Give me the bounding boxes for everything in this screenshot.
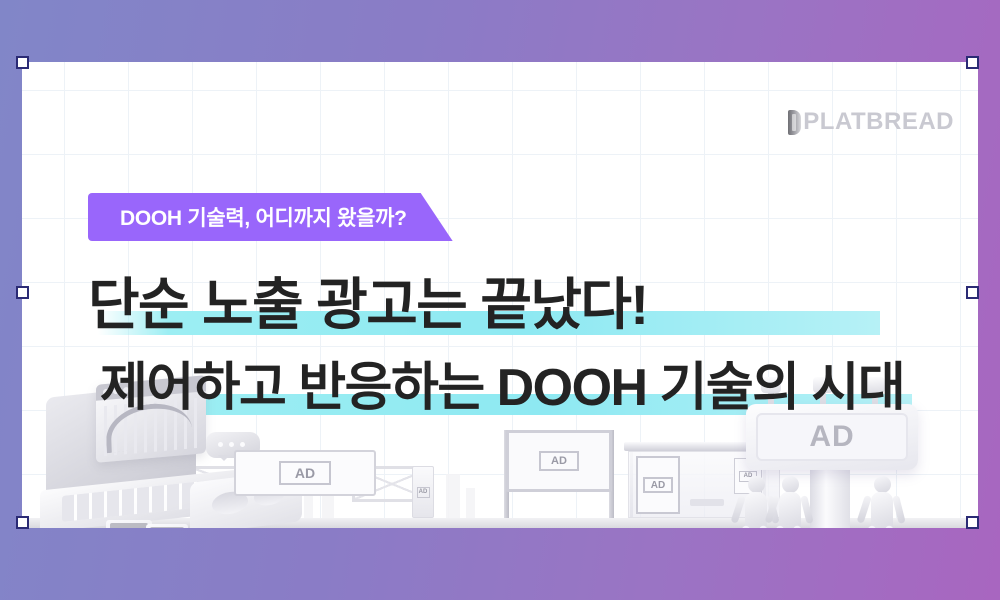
b-mark-icon (788, 110, 801, 135)
pedestrian-figure (776, 476, 806, 528)
figure-leg (758, 525, 776, 528)
box-lid (150, 527, 184, 528)
brand-logo: PLATBREAD (788, 108, 954, 136)
figure-body (779, 492, 801, 528)
billboard-panel: AD (506, 430, 612, 492)
ad-label: AD (417, 487, 430, 498)
figure-body (871, 492, 893, 528)
selection-handle-mid-left[interactable] (16, 286, 29, 299)
selection-handle-mid-right[interactable] (966, 286, 979, 299)
headline-line-2-text: 제어하고 반응하는 DOOH 기술의 시대 (100, 359, 904, 417)
figure-head (782, 476, 799, 493)
ad-label: AD (539, 451, 579, 471)
eyebrow-banner-text: DOOH 기술력, 어디까지 왔을까? (120, 202, 407, 232)
figure-body (745, 492, 767, 528)
ad-label: AD (279, 461, 331, 485)
bubble-dot-icon (240, 442, 245, 447)
figure-arm (731, 495, 746, 524)
selection-handle-bottom-right[interactable] (966, 516, 979, 529)
figure-head (748, 476, 765, 493)
hero-billboard-screen: AD (756, 413, 908, 461)
ad-label: AD (643, 477, 673, 493)
pillar-sign: AD (412, 466, 434, 518)
ad-label: AD (809, 420, 854, 454)
bubble-dot-icon (229, 442, 234, 447)
billboard-framed: AD (500, 430, 618, 518)
hero-pillar (810, 460, 850, 528)
box-lid (110, 523, 148, 528)
pedestrian-figure (868, 476, 898, 528)
artboard-canvas[interactable]: PLATBREAD DOOH 기술력, 어디까지 왔을까? 단순 노출 광고는 … (22, 62, 978, 528)
figure-arm (857, 495, 872, 524)
figure-head (874, 476, 891, 493)
eyebrow-banner: DOOH 기술력, 어디까지 왔을까? (88, 193, 453, 241)
headline-line-1-text: 단순 노출 광고는 끝났다! (88, 273, 648, 336)
brand-logo-text: PLATBREAD (803, 108, 954, 136)
figure-leg (884, 525, 902, 528)
billboard-wide: AD (234, 450, 376, 496)
parcel-box (146, 524, 188, 528)
bubble-dot-icon (218, 442, 223, 447)
shelter-ad-panel-large: AD (636, 456, 680, 514)
figure-arm (892, 495, 906, 524)
city-building (446, 474, 460, 518)
city-building (466, 488, 475, 518)
selection-handle-top-left[interactable] (16, 56, 29, 69)
selection-handle-top-right[interactable] (966, 56, 979, 69)
headline-line-1: 단순 노출 광고는 끝났다! (88, 260, 904, 341)
selection-handle-bottom-left[interactable] (16, 516, 29, 529)
